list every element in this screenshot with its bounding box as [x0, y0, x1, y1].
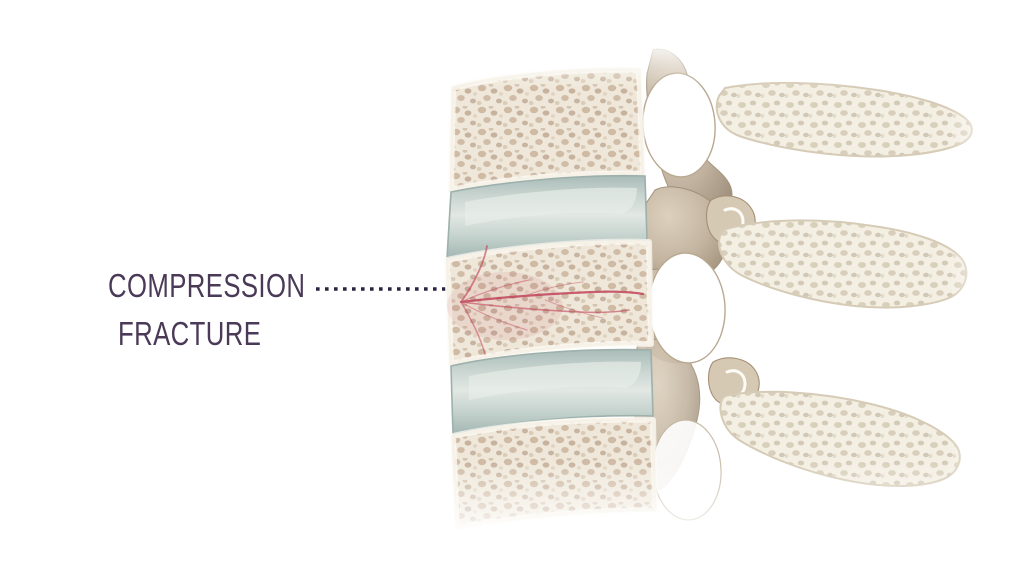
- middle-spinous-process: [719, 220, 966, 307]
- spinous-processes: [717, 83, 972, 486]
- fracture-hemorrhage-blush: [447, 272, 563, 340]
- annotation-label-line-2: FRACTURE: [118, 310, 290, 358]
- bottom-fade: [425, 460, 1005, 540]
- illustration-canvas: COMPRESSION FRACTURE: [0, 0, 1024, 576]
- superior-spinous-process: [717, 83, 972, 157]
- right-fade: [945, 40, 1005, 540]
- annotation-label-line-1: COMPRESSION: [108, 262, 287, 310]
- annotation-label: COMPRESSION FRACTURE: [108, 262, 338, 358]
- top-fade: [425, 40, 1005, 88]
- fractured-vertebral-body: [447, 242, 651, 364]
- spine-illustration: [425, 40, 1005, 540]
